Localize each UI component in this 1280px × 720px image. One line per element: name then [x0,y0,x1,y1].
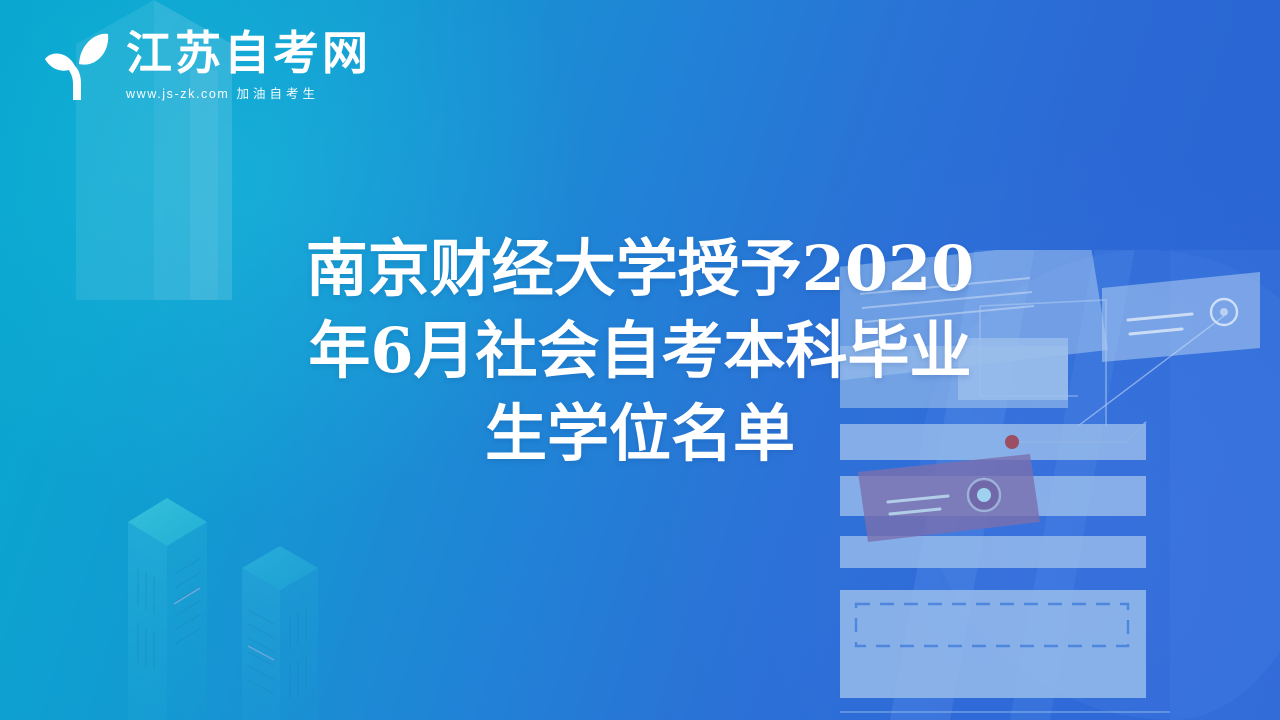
site-logo[interactable]: 江苏自考网 www.js-zk.com加油自考生 [34,22,371,108]
banner-headline: 南京财经大学授予2020 年6月社会自考本科毕业 生学位名单 [0,228,1280,475]
headline-line-3: 生学位名单 [150,393,1130,475]
site-tagline: www.js-zk.com加油自考生 [126,83,371,102]
banner-image: 江苏自考网 www.js-zk.com加油自考生 南京财经大学授予2020 年6… [0,0,1280,720]
headline-line-1: 南京财经大学授予2020 [150,228,1130,310]
site-url: www.js-zk.com [126,87,229,101]
sprout-leaf-icon [34,22,120,108]
building-tall-icon [88,488,318,720]
headline-line-2: 年6月社会自考本科毕业 [150,310,1130,392]
site-slogan: 加油自考生 [236,87,319,101]
site-name: 江苏自考网 [126,30,371,77]
building-short-icon [212,540,412,720]
dashed-input-field [856,604,1128,646]
